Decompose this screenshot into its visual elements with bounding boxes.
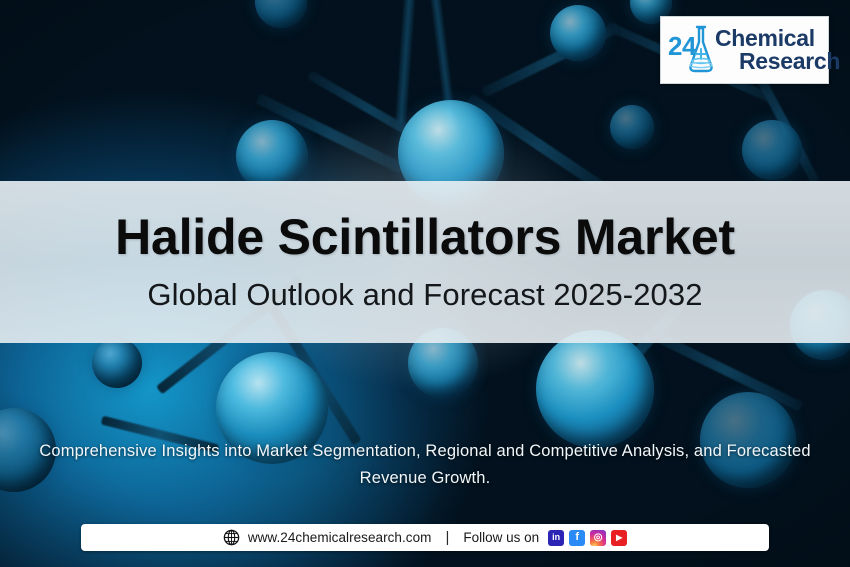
logo-word-chemical: Chemical — [715, 27, 840, 50]
title-band: Halide Scintillators Market Global Outlo… — [0, 181, 850, 343]
tagline-text: Comprehensive Insights into Market Segme… — [0, 438, 850, 491]
page-title: Halide Scintillators Market — [115, 211, 735, 264]
footer-divider: | — [445, 529, 449, 546]
facebook-icon[interactable]: f — [569, 530, 585, 546]
instagram-glyph: ◎ — [594, 533, 603, 543]
website-url[interactable]: www.24chemicalresearch.com — [248, 530, 432, 545]
flask-icon — [688, 25, 714, 80]
youtube-glyph: ▶ — [616, 534, 622, 542]
globe-icon — [223, 529, 240, 546]
page-subtitle: Global Outlook and Forecast 2025-2032 — [147, 277, 702, 313]
social-links: in f ◎ ▶ — [548, 530, 627, 546]
logo-mark: 24 — [668, 23, 714, 77]
youtube-icon[interactable]: ▶ — [611, 530, 627, 546]
logo-word-research: Research — [739, 50, 840, 73]
instagram-icon[interactable]: ◎ — [590, 530, 606, 546]
linkedin-glyph: in — [552, 533, 560, 542]
linkedin-icon[interactable]: in — [548, 530, 564, 546]
logo-wordmark: Chemical Research — [715, 27, 840, 74]
footer-bar: www.24chemicalresearch.com | Follow us o… — [81, 524, 769, 551]
follow-us-label: Follow us on — [463, 530, 539, 545]
report-cover: 24 Chemical Research Halide Scintillator… — [0, 0, 850, 567]
brand-logo[interactable]: 24 Chemical Research — [660, 16, 829, 84]
facebook-glyph: f — [575, 532, 579, 543]
